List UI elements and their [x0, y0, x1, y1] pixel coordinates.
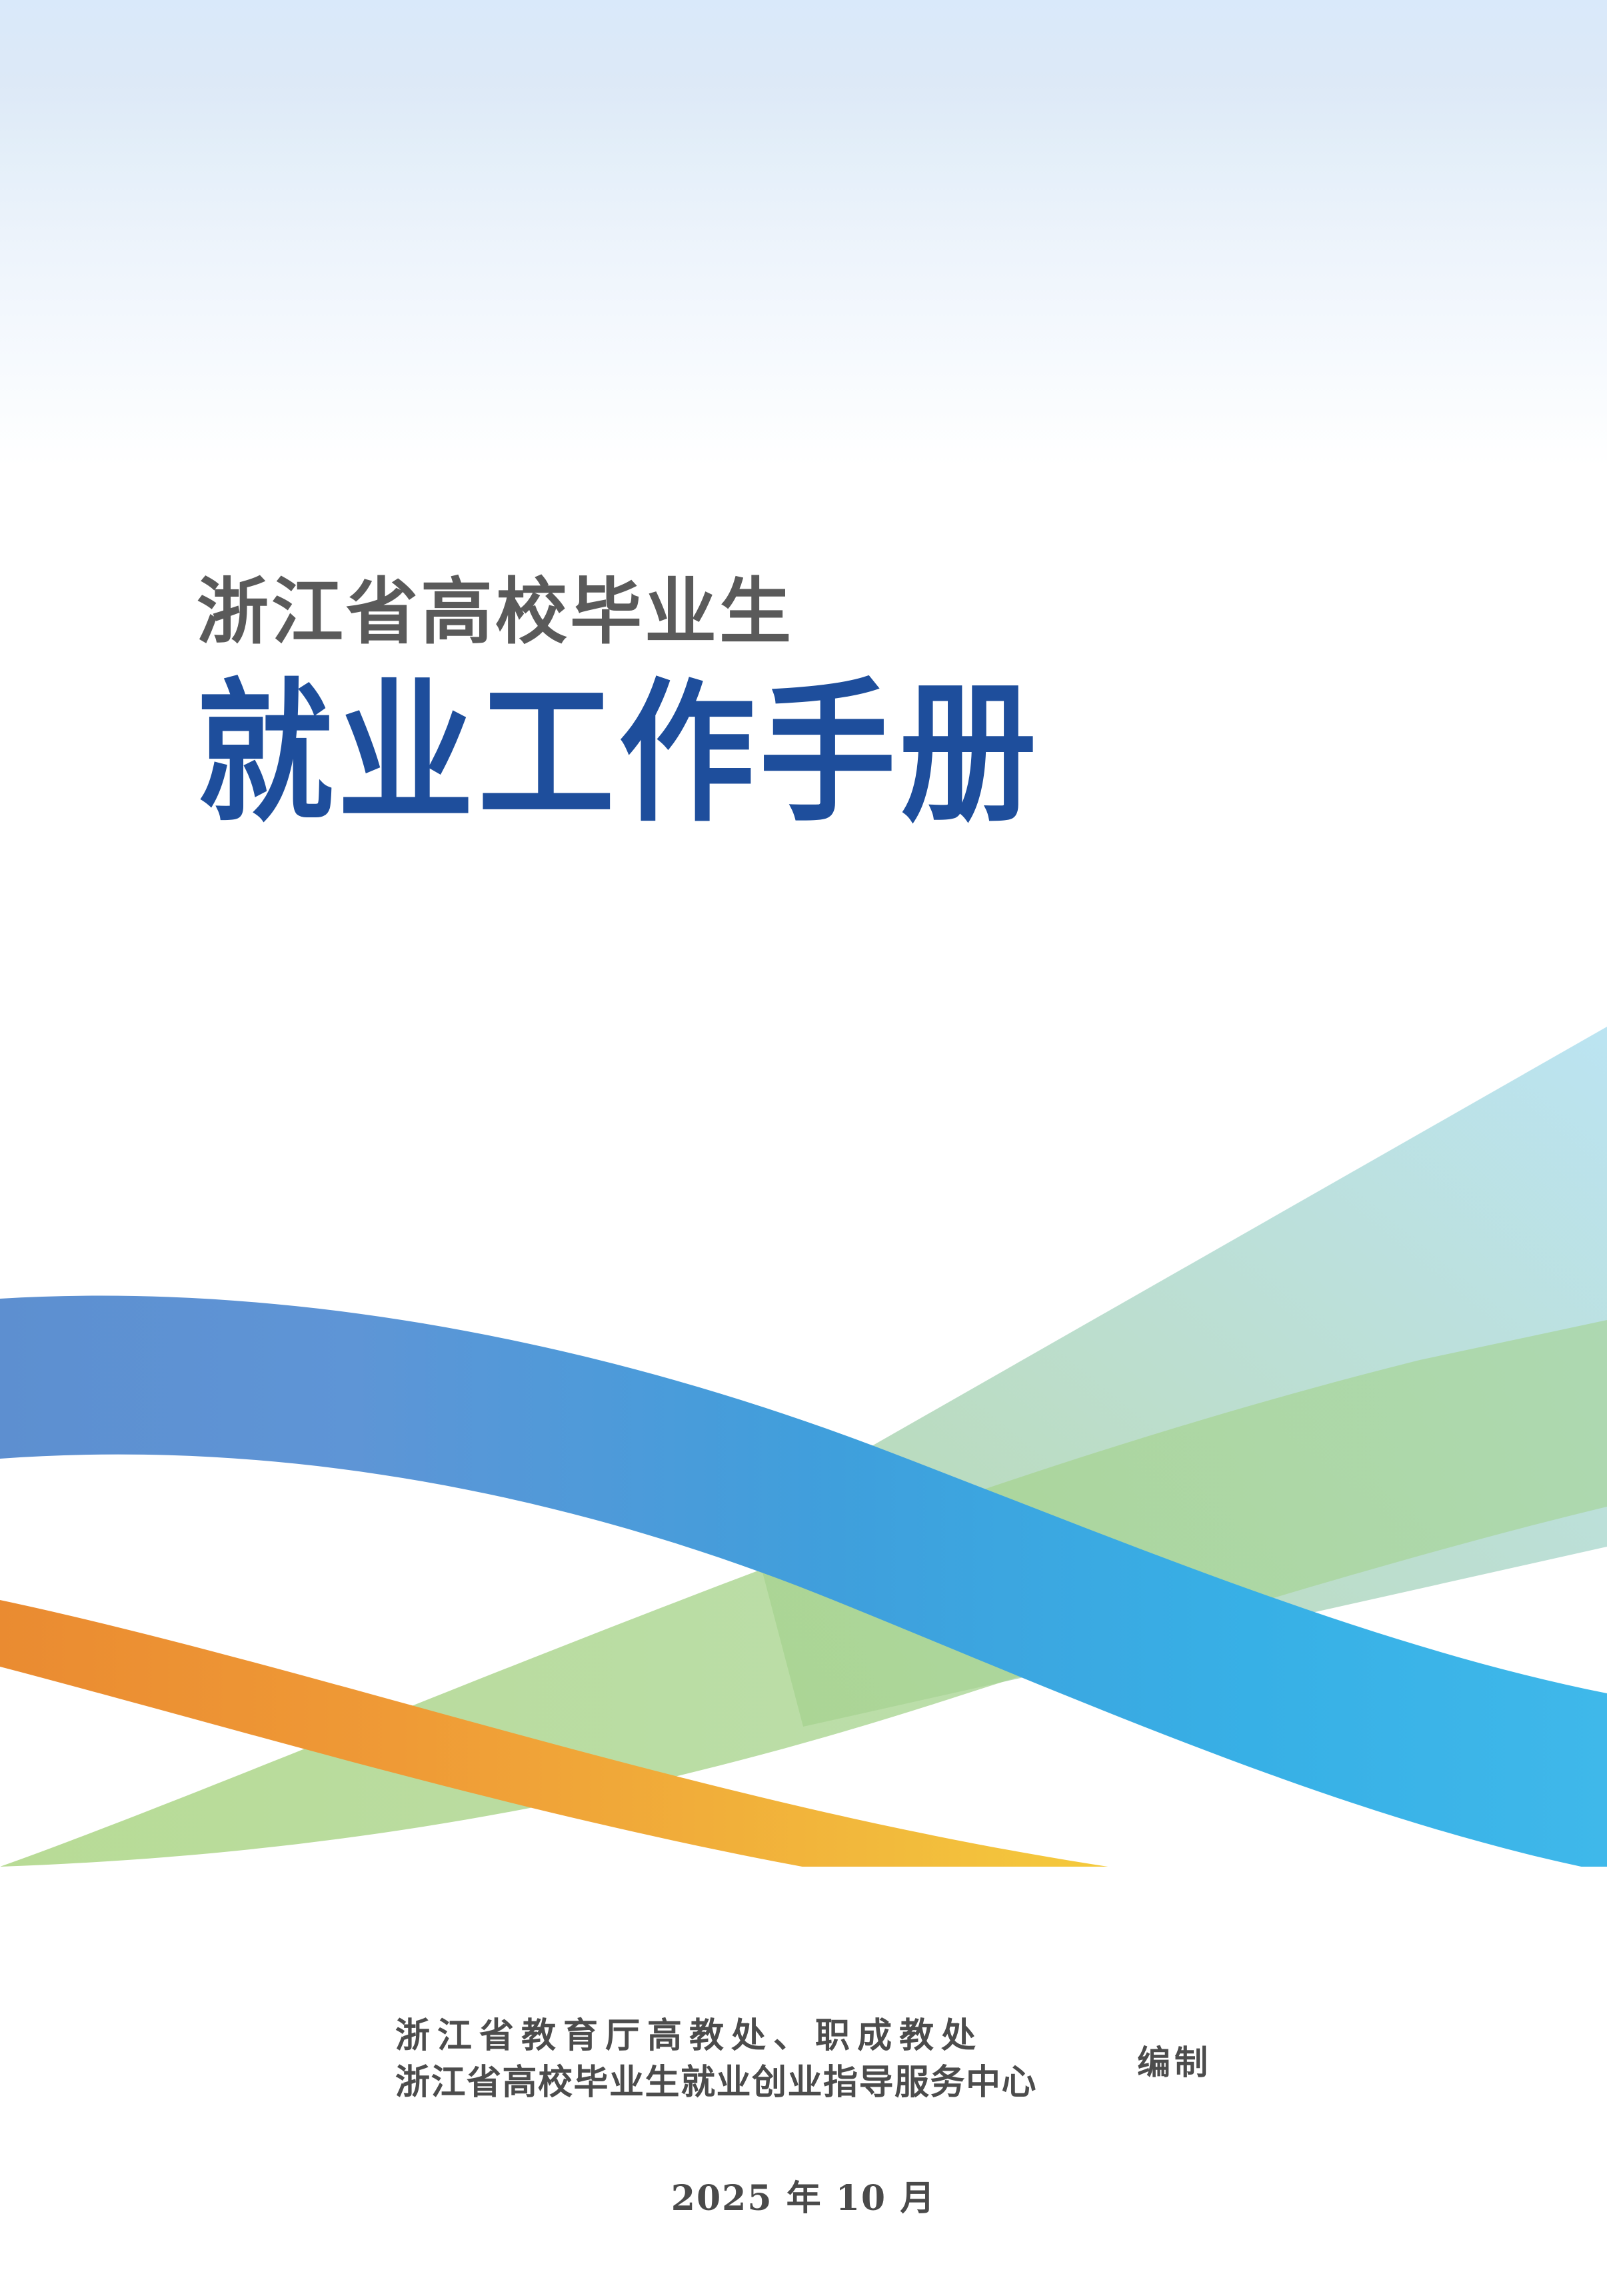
publisher-line-1: 浙江省教育厅高教处、职成教处	[395, 2013, 1037, 2060]
publication-date: 2025 年 10 月	[0, 2170, 1607, 2220]
wave-artwork-svg	[0, 1027, 1607, 1867]
publisher-line-2: 浙江省高校毕业生就业创业指导服务中心	[395, 2060, 1037, 2107]
publisher-row: 浙江省教育厅高教处、职成教处 浙江省高校毕业生就业创业指导服务中心 编制	[0, 2013, 1607, 2106]
cover-page: 浙江省高校毕业生 就业工作手册	[0, 0, 1607, 2296]
publisher-names: 浙江省教育厅高教处、职成教处 浙江省高校毕业生就业创业指导服务中心	[395, 2013, 1037, 2106]
compiled-by-label: 编制	[1137, 2036, 1212, 2084]
background-gradient	[0, 0, 1607, 467]
wave-artwork	[0, 1027, 1607, 1867]
document-title: 就业工作手册	[197, 672, 1330, 837]
document-subtitle: 浙江省高校毕业生	[197, 570, 1330, 655]
title-block: 浙江省高校毕业生 就业工作手册	[197, 570, 1330, 820]
footer-block: 浙江省教育厅高教处、职成教处 浙江省高校毕业生就业创业指导服务中心 编制 202…	[0, 2013, 1607, 2220]
